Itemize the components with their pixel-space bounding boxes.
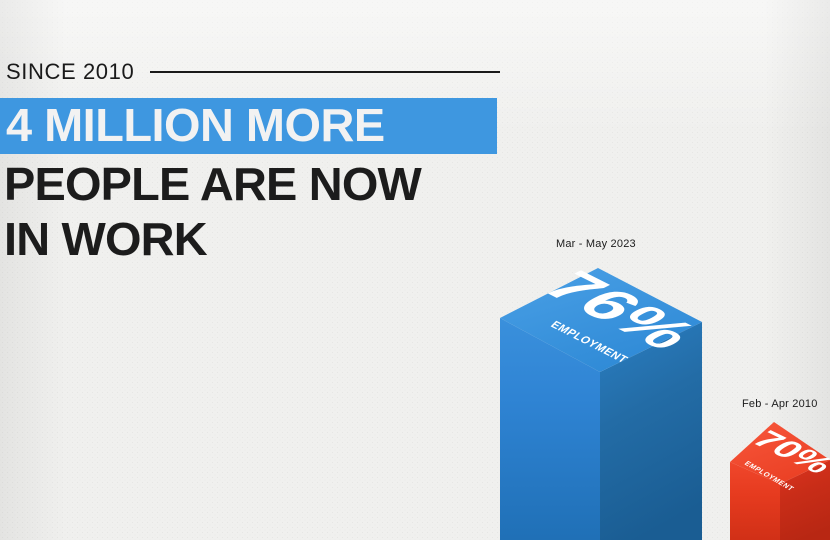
bar-date-label-red: Feb - Apr 2010 — [742, 398, 818, 410]
bar-blue-svg: 76% EMPLOYMENT — [498, 266, 706, 540]
kicker-rule — [150, 71, 500, 73]
bar-red-70-percent: 70% EMPLOYMENT — [728, 420, 830, 540]
bar-blue-76-percent: 76% EMPLOYMENT — [498, 266, 706, 540]
bar-date-label-blue: Mar - May 2023 — [556, 238, 636, 250]
bar-red-svg: 70% EMPLOYMENT — [728, 420, 830, 540]
headline-line-1: PEOPLE ARE NOW — [4, 157, 421, 211]
headline-line-2: IN WORK — [4, 212, 207, 266]
infographic-canvas: SINCE 2010 4 MILLION MORE PEOPLE ARE NOW… — [0, 0, 830, 540]
headline-highlight-band: 4 MILLION MORE — [0, 98, 497, 154]
kicker-row: SINCE 2010 — [6, 58, 506, 86]
kicker-text: SINCE 2010 — [6, 59, 134, 85]
headline-band-text: 4 MILLION MORE — [6, 97, 385, 153]
